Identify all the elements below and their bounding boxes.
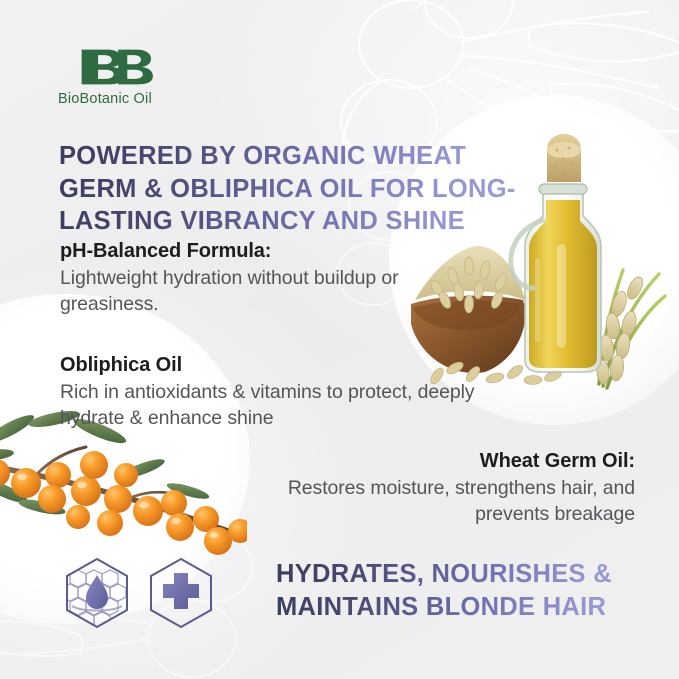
benefit-title: Wheat Germ Oil: [215, 448, 635, 475]
benefit-body: Rich in antioxidants & vitamins to prote… [60, 379, 480, 432]
benefit-body: Lightweight hydration without buildup or… [60, 265, 460, 318]
bb-monogram-icon [78, 46, 160, 88]
benefit-obliphica-oil: Obliphica Oil Rich in antioxidants & vit… [60, 352, 480, 432]
benefit-wheat-germ-oil: Wheat Germ Oil: Restores moisture, stren… [215, 448, 635, 528]
honeycomb-droplet-icon [62, 556, 132, 630]
plus-cross-icon [146, 556, 216, 630]
brand-name: BioBotanic Oil [58, 91, 238, 107]
brand-logo: BioBotanic Oil [58, 46, 238, 107]
footer-headline: HYDRATES, NOURISHES & MAINTAINS BLONDE H… [276, 558, 666, 624]
benefit-title: Obliphica Oil [60, 352, 480, 379]
badge-row [62, 556, 216, 630]
page-title: POWERED BY ORGANIC WHEAT GERM & OBLIPHIC… [59, 140, 549, 238]
infographic-canvas: BioBotanic Oil POWERED BY ORGANIC WHEAT … [0, 0, 679, 679]
benefit-body: Restores moisture, strengthens hair, and… [215, 475, 635, 528]
benefit-ph-balanced: pH-Balanced Formula: Lightweight hydrati… [60, 238, 460, 318]
benefit-title: pH-Balanced Formula: [60, 238, 460, 265]
